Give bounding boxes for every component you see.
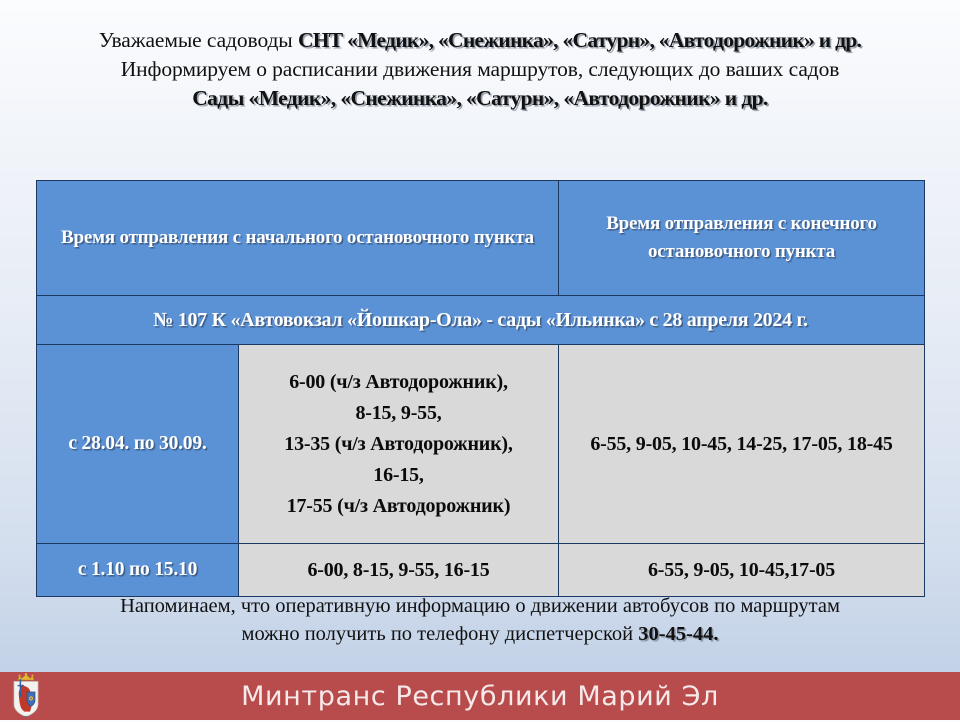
ministry-banner: Минтранс Республики Марий Эл [0,672,960,720]
schedule-table-wrapper: Время отправления с начального остановоч… [36,180,924,597]
column-header-end: Время отправления с конечного остановочн… [559,181,925,296]
route-title: № 107 К «Автовокзал «Йошкар-Ола» - сады … [37,296,925,345]
departures-end: 6-55, 9-05, 10-45, 14-25, 17-05, 18-45 [559,345,925,544]
route-title-row: № 107 К «Автовокзал «Йошкар-Ола» - сады … [37,296,925,345]
heading-line-2: Информируем о расписании движения маршру… [18,55,942,83]
footer-note-text: Напоминаем, что оперативную информацию о… [120,595,840,645]
departures-start: 6-00, 8-15, 9-55, 16-15 [239,544,559,597]
departures-end: 6-55, 9-05, 10-45,17-05 [559,544,925,597]
table-row: с 1.10 по 15.10 6-00, 8-15, 9-55, 16-15 … [37,544,925,597]
schedule-table: Время отправления с начального остановоч… [36,180,925,597]
table-row: с 28.04. по 30.09. 6-00 (ч/з Автодорожни… [37,345,925,544]
page-heading: Уважаемые садоводы СНТ «Медик», «Снежинк… [0,0,960,112]
column-header-start: Время отправления с начального остановоч… [37,181,559,296]
departures-start: 6-00 (ч/з Автодорожник), 8-15, 9-55, 13-… [239,345,559,544]
footer-note: Напоминаем, что оперативную информацию о… [0,592,960,648]
heading-line-1-bold: СНТ «Медик», «Снежинка», «Сатурн», «Авто… [298,28,861,52]
table-header-row: Время отправления с начального остановоч… [37,181,925,296]
heading-line-1: Уважаемые садоводы СНТ «Медик», «Снежинк… [18,26,942,54]
dispatcher-phone: 30-45-44. [638,623,718,645]
heading-line-3: Сады «Медик», «Снежинка», «Сатурн», «Авт… [18,84,942,112]
period-label: с 28.04. по 30.09. [37,345,239,544]
heading-line-1-plain: Уважаемые садоводы [99,28,298,52]
mari-el-coat-of-arms-icon [10,673,42,717]
period-label: с 1.10 по 15.10 [37,544,239,597]
banner-title: Минтранс Республики Марий Эл [42,681,960,712]
